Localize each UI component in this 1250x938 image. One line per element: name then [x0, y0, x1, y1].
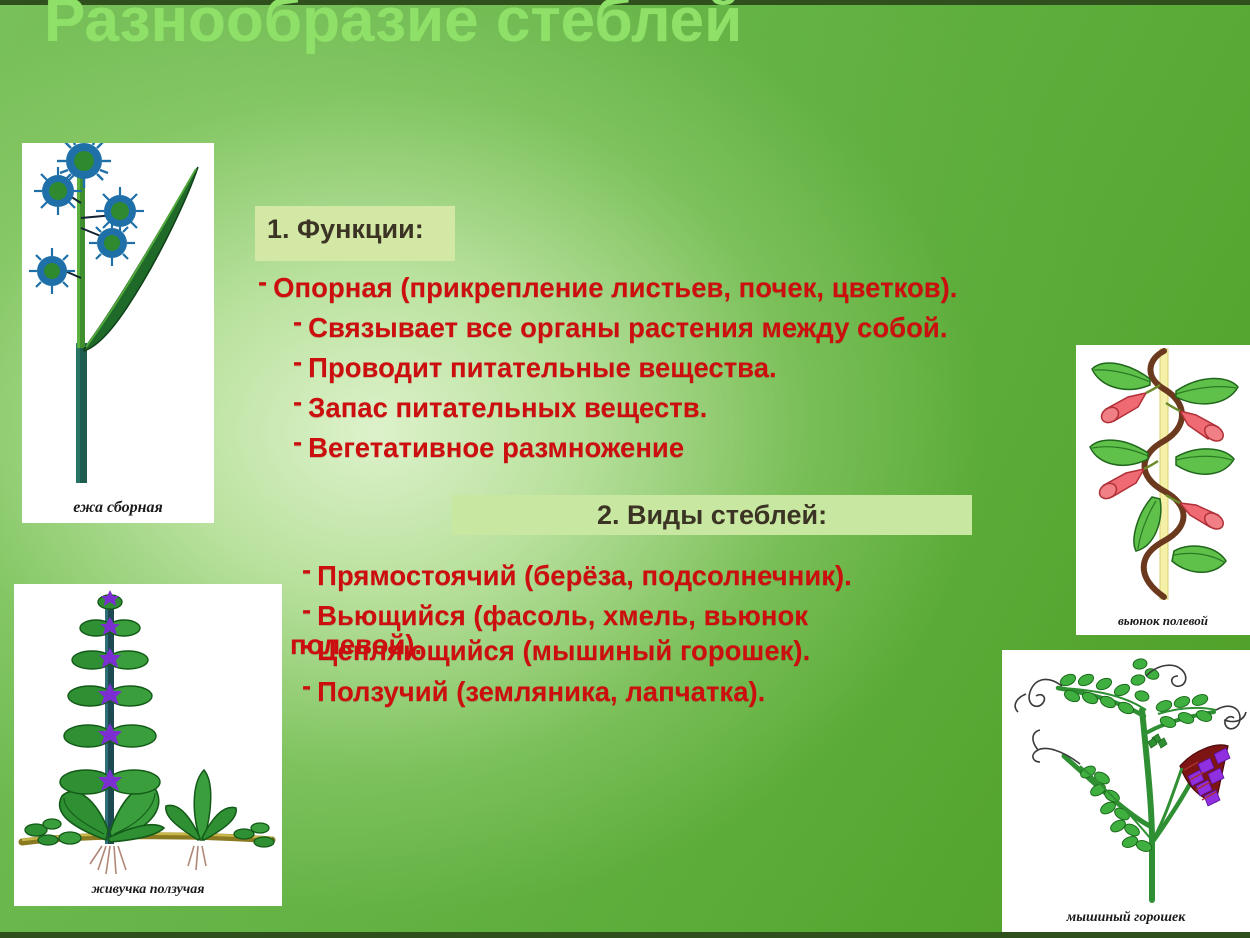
functions-item-5-text: Вегетативное размножение: [308, 432, 684, 463]
functions-item-1-text: Опорная (прикрепление листьев, почек, цв…: [273, 272, 957, 303]
bullet-dash-icon: -: [302, 596, 311, 624]
kinds-item-2-text: Вьющийся (фасоль, хмель, вьюнок: [317, 600, 808, 631]
functions-item-5: -Вегетативное размножение: [293, 428, 684, 462]
figure-vyunok-caption: вьюнок полевой: [1076, 613, 1250, 629]
bottom-edge-strip: [0, 932, 1250, 938]
functions-item-4-text: Запас питательных веществ.: [308, 392, 707, 423]
figure-vyunok-polevoy: вьюнок полевой: [1076, 345, 1250, 635]
kinds-item-2: -Вьющийся (фасоль, хмель, вьюнок: [302, 596, 808, 630]
vyunok-illustration: [1076, 345, 1250, 635]
functions-item-1: -Опорная (прикрепление листьев, почек, ц…: [258, 268, 957, 302]
kinds-item-4-text: Ползучий (земляника, лапчатка).: [317, 676, 765, 707]
goroshek-illustration: [1002, 650, 1250, 932]
kinds-item-1: -Прямостоячий (берёза, подсолнечник).: [302, 556, 852, 590]
zhivuchka-illustration: [14, 584, 282, 906]
figure-goroshek-caption: мышиный горошек: [1002, 910, 1250, 926]
ezha-sbornaya-illustration: [22, 143, 214, 523]
bullet-dash-icon: -: [302, 556, 311, 584]
bullet-dash-icon: -: [293, 348, 302, 376]
functions-item-2-text: Связывает все органы растения между собо…: [308, 312, 947, 343]
figure-ezha-sbornaya: ежа сборная: [22, 143, 214, 523]
bullet-dash-icon: -: [302, 631, 311, 659]
kinds-item-1-text: Прямостоячий (берёза, подсолнечник).: [317, 560, 852, 591]
figure-zhivuchka-polzuchaya: живучка ползучая: [14, 584, 282, 906]
bullet-dash-icon: -: [302, 672, 311, 700]
bullet-dash-icon: -: [293, 388, 302, 416]
kinds-heading-box: 2. Виды стеблей:: [452, 495, 972, 535]
bullet-dash-icon: -: [293, 428, 302, 456]
kinds-item-3-text: Цепляющийся (мышиный горошек).: [317, 635, 810, 666]
slide-canvas: Разнообразие стеблей 1. Функции: -Опорна…: [0, 0, 1250, 938]
kinds-item-3: -Цепляющийся (мышиный горошек).: [302, 631, 810, 665]
functions-item-3: -Проводит питательные вещества.: [293, 348, 777, 382]
kinds-item-4: -Ползучий (земляника, лапчатка).: [302, 672, 765, 706]
bullet-dash-icon: -: [258, 268, 267, 296]
functions-item-2: -Связывает все органы растения между соб…: [293, 308, 947, 342]
functions-heading-box: 1. Функции:: [255, 206, 455, 261]
slide-title: Разнообразие стеблей: [44, 0, 744, 52]
figure-myshiny-goroshek: мышиный горошек: [1002, 650, 1250, 932]
functions-item-3-text: Проводит питательные вещества.: [308, 352, 776, 383]
figure-zhivuchka-caption: живучка ползучая: [14, 882, 282, 898]
figure-ezha-caption: ежа сборная: [22, 499, 214, 517]
functions-item-4: -Запас питательных веществ.: [293, 388, 707, 422]
bullet-dash-icon: -: [293, 308, 302, 336]
